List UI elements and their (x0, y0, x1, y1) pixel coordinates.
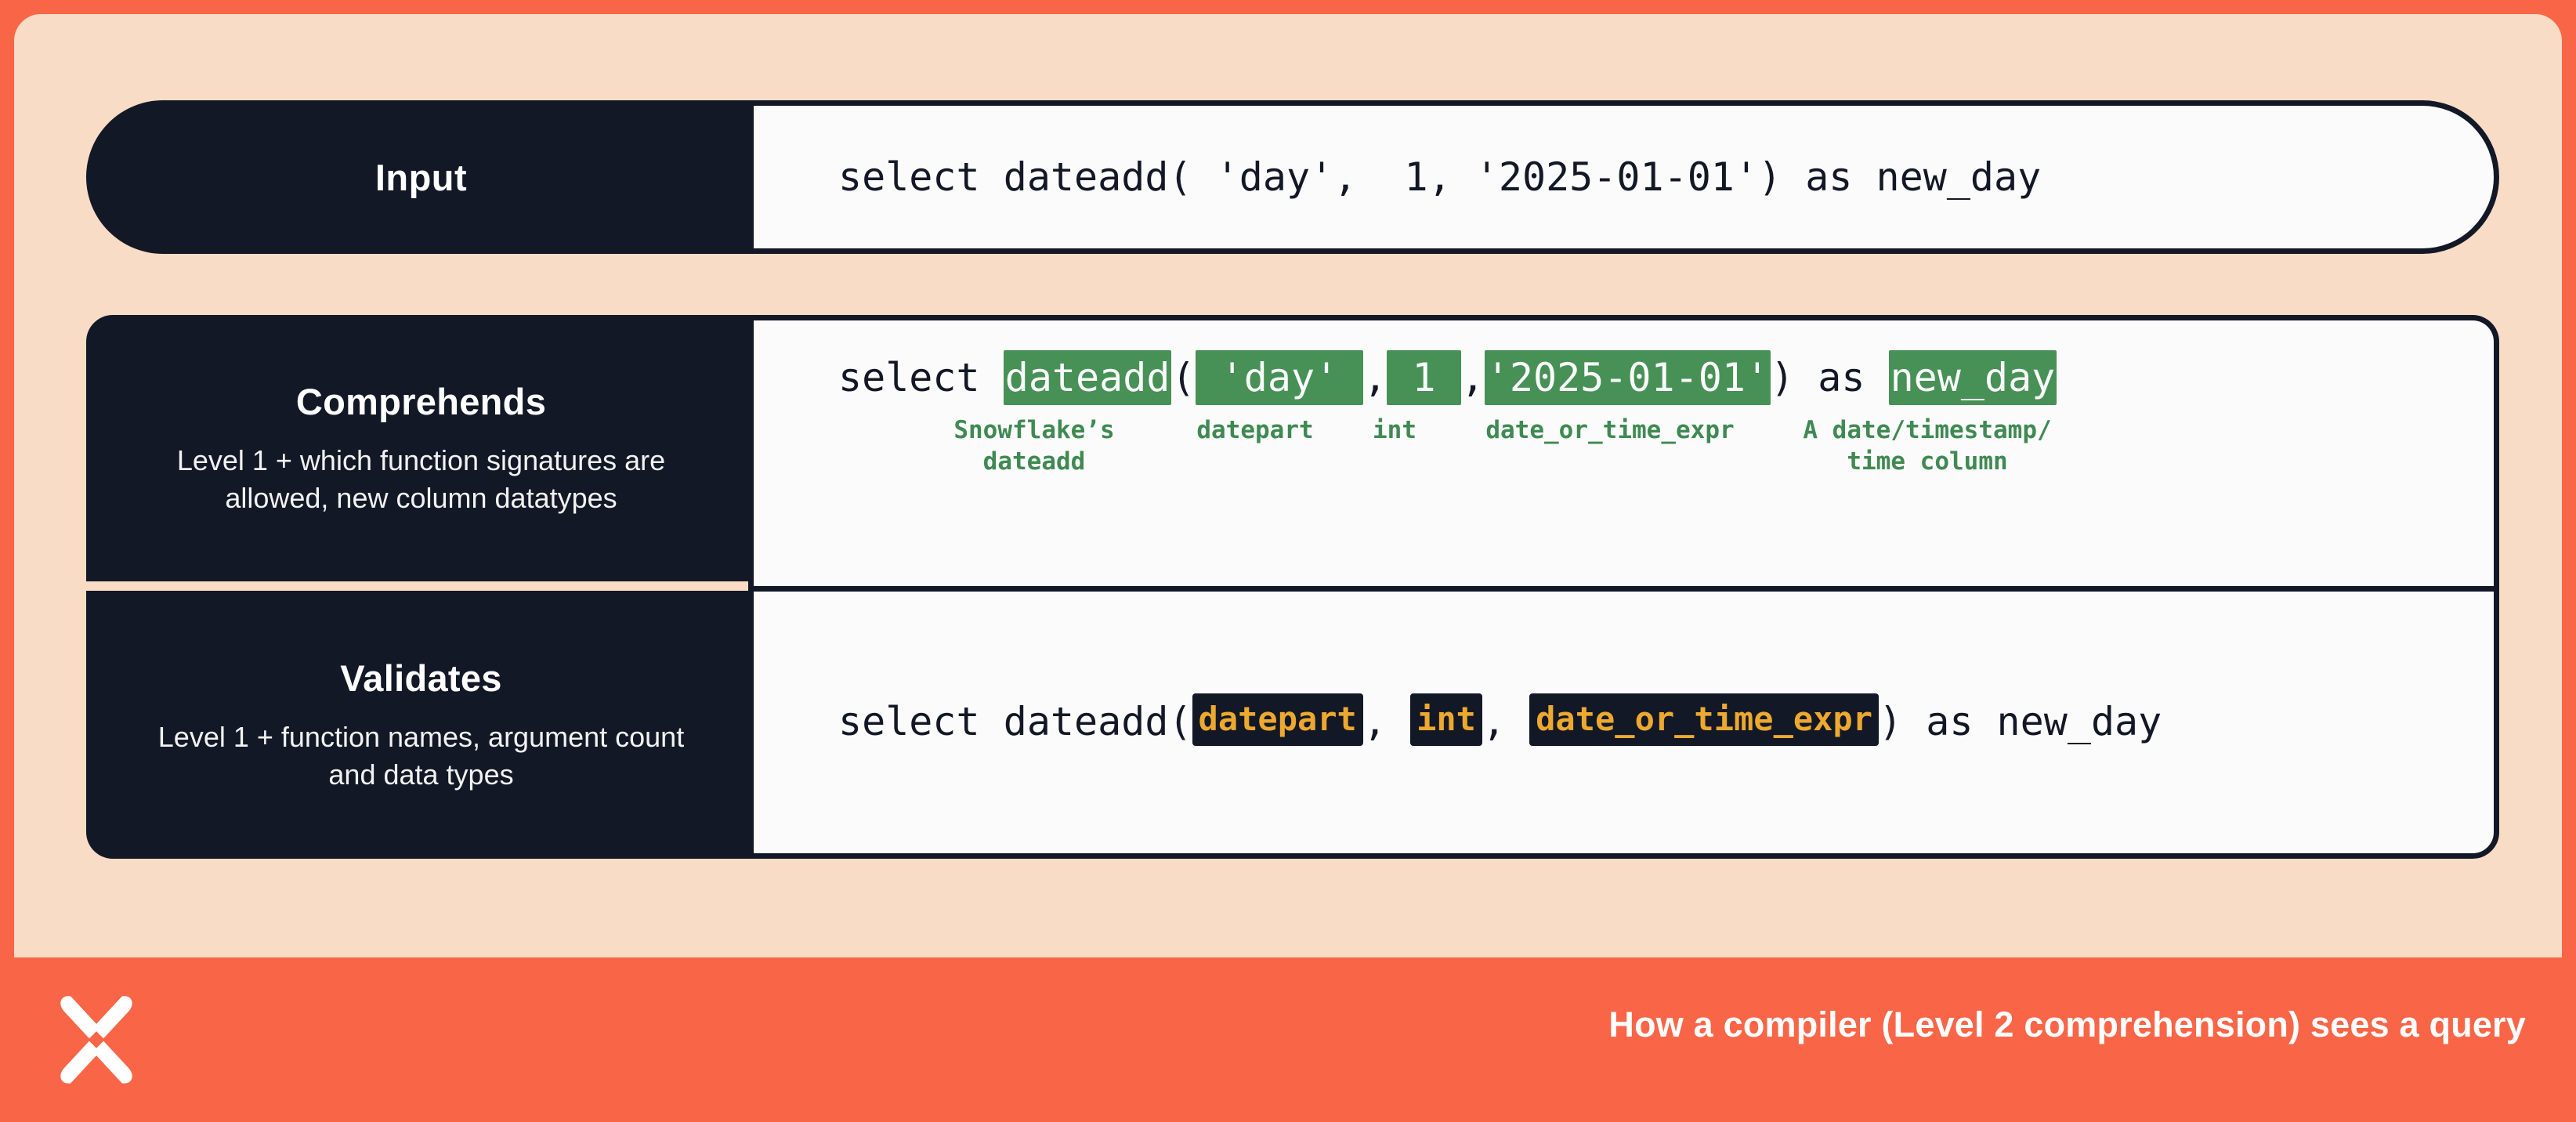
code-token: ( (1171, 355, 1195, 400)
input-code-text: select dateadd( 'day', 1, '2025-01-01') … (838, 154, 2041, 200)
code-token: , (1363, 355, 1387, 400)
validates-code-panel: select dateadd(datepart, int, date_or_ti… (748, 586, 2499, 859)
code-token: dateadd (1004, 350, 1172, 405)
infographic-poster: Input select dateadd( 'day', 1, '2025-01… (0, 0, 2576, 1122)
code-token: int (1410, 693, 1482, 746)
code-token: , (1482, 699, 1529, 744)
code-token: date_or_time_expr (1529, 693, 1879, 746)
lower-card: Comprehends Level 1 + which function sig… (86, 315, 2499, 859)
code-token: ) as new_day (1879, 699, 2162, 744)
code-token: datepart (1192, 693, 1363, 746)
x-star-logo (47, 990, 146, 1089)
footer-caption: How a compiler (Level 2 comprehension) s… (1608, 1004, 2526, 1045)
content-stage: Input select dateadd( 'day', 1, '2025-01… (14, 14, 2562, 962)
comprehends-code-text: select dateadd( 'day' , 1 ,'2025-01-01')… (838, 350, 2494, 405)
comprehends-annotations: Snowflake’s dateadddatepartintdate_or_ti… (838, 414, 2494, 509)
annotation-label: Snowflake’s dateadd (913, 414, 1156, 478)
comprehends-code-panel: select dateadd( 'day' , 1 ,'2025-01-01')… (748, 315, 2499, 586)
annotation-label: datepart (1161, 414, 1349, 446)
input-row-title: Input (375, 156, 467, 199)
comprehends-row-subtitle: Level 1 + which function signatures are … (132, 442, 711, 517)
code-token: 1 (1387, 350, 1460, 405)
validates-code-wrap: select dateadd(datepart, int, date_or_ti… (838, 695, 2494, 747)
annotation-label: date_or_time_expr (1445, 414, 1775, 446)
comprehends-row-label: Comprehends Level 1 + which function sig… (86, 315, 756, 581)
validates-code-text: select dateadd(datepart, int, date_or_ti… (838, 695, 2494, 747)
footer-bar: How a compiler (Level 2 comprehension) s… (0, 957, 2576, 1122)
code-token: ) (1771, 355, 1794, 400)
validates-row-label: Validates Level 1 + function names, argu… (86, 591, 756, 859)
input-code-panel: select dateadd( 'day', 1, '2025-01-01') … (748, 100, 2499, 254)
validates-row-title: Validates (340, 657, 502, 700)
code-token: as (1794, 355, 1888, 400)
code-token: select (838, 355, 1004, 400)
code-token: , (1363, 699, 1410, 744)
code-token: '2025-01-01' (1485, 350, 1771, 405)
code-token: new_day (1889, 350, 2057, 405)
comprehends-code-wrap: select dateadd( 'day' , 1 ,'2025-01-01')… (838, 350, 2494, 405)
validates-row-subtitle: Level 1 + function names, argument count… (132, 718, 711, 794)
input-row-label: Input (86, 100, 756, 254)
code-token: , (1461, 355, 1485, 400)
code-token: select dateadd( (838, 699, 1192, 744)
annotation-label: A date/timestamp/ time column (1763, 414, 2092, 478)
input-row: Input select dateadd( 'day', 1, '2025-01… (86, 100, 2499, 254)
comprehends-row-title: Comprehends (296, 380, 546, 423)
annotation-label: int (1351, 414, 1438, 446)
code-token: 'day' (1196, 350, 1364, 405)
